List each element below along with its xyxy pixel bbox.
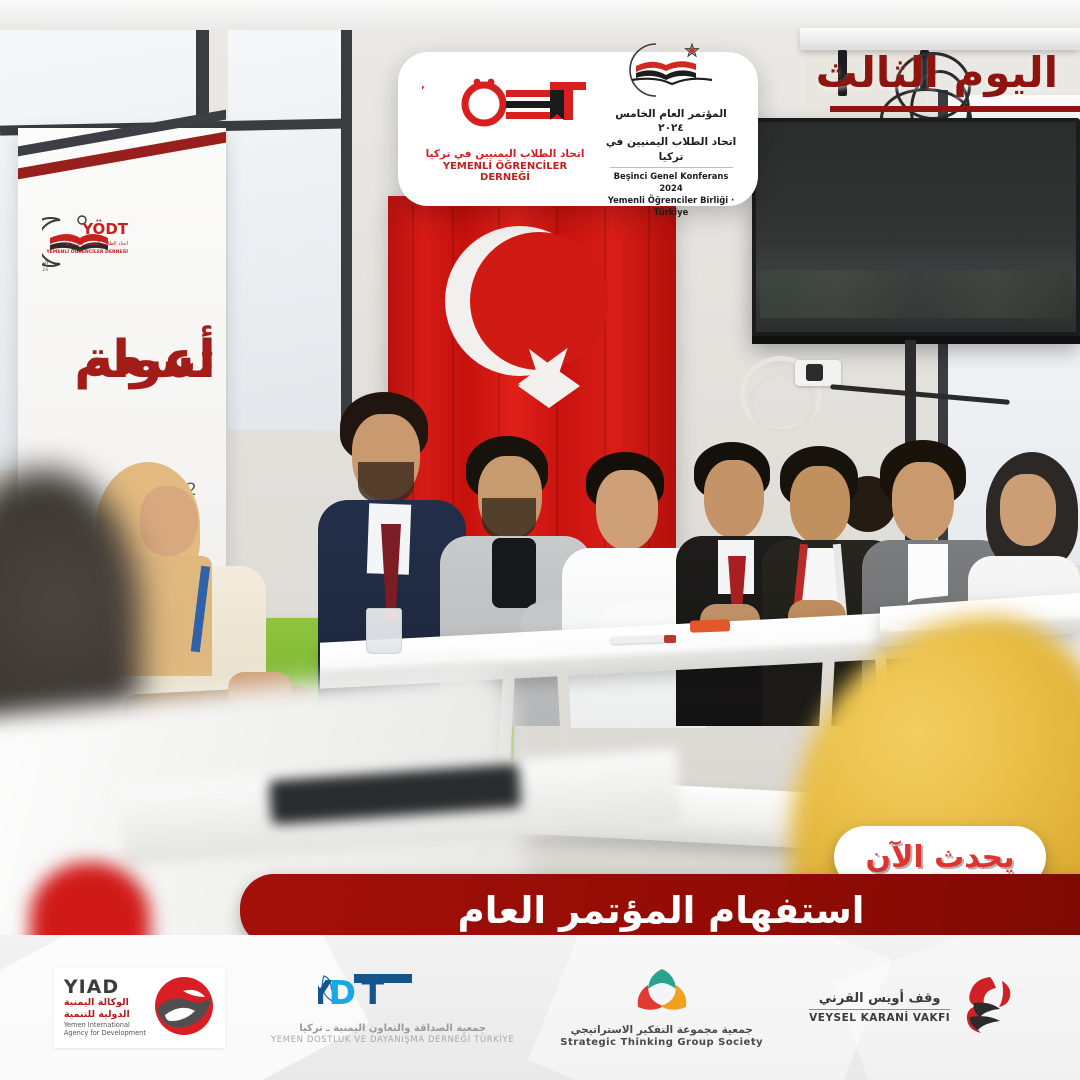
attendee-face	[1000, 474, 1056, 546]
water-cup	[366, 608, 402, 654]
veysel-karani-english: VEYSEL KARANİ VAKFI	[809, 1012, 950, 1024]
power-plug	[806, 364, 823, 381]
window-mullion-b	[341, 0, 352, 430]
yodt-wordmark-icon: Y	[418, 76, 593, 142]
yodt-logo: Y اتحاد الطلاب اليمنيين في تركيا YEMENLİ	[418, 76, 593, 183]
smartphone	[820, 611, 892, 629]
day-label: اليوم الثالث	[816, 52, 1058, 94]
svg-text:D: D	[328, 973, 355, 1012]
attendee-face	[596, 470, 658, 550]
yodt-arabic-name: اتحاد الطلاب اليمنيين في تركيا	[418, 148, 593, 160]
conference-logo: المؤتمر العام الخامس ٢٠٢٤ اتحاد الطلاب ا…	[604, 40, 739, 219]
divider	[610, 167, 733, 168]
attendee-beard	[482, 498, 536, 540]
yiad-text: YIAD الوكالة اليمنية الدولية للتنمية Yem…	[64, 978, 146, 1037]
tv-bottom-bezel	[752, 336, 1080, 344]
svg-text:YEMENLİ ÖĞRENCİLER DERNEĞİ: YEMENLİ ÖĞRENCİLER DERNEĞİ	[45, 248, 128, 255]
yodt-turkish-name: YEMENLİ ÖĞRENCİLER DERNEĞİ	[418, 161, 593, 183]
svg-text:المؤتمر العام الخامس ٢٠٢٤: المؤتمر العام الخامس ٢٠٢٤	[42, 260, 48, 266]
strategic-thinking-english: Strategic Thinking Group Society	[560, 1037, 763, 1048]
ydt-arabic: جمعية الصداقة والتعاون اليمنية ـ تركيا	[271, 1022, 514, 1035]
yiad-arabic-line2: الدولية للتنمية	[64, 1009, 146, 1021]
footer-logo-yiad: YIAD الوكالة اليمنية الدولية للتنمية Yem…	[54, 968, 225, 1048]
footer-logo-veysel-karani: وقف أويس القرني VEYSEL KARANİ VAKFI	[809, 975, 1026, 1041]
day-label-underline	[830, 106, 1080, 112]
svg-text:YÖDT: YÖDT	[81, 219, 129, 238]
svg-text:Y: Y	[422, 77, 425, 131]
strategic-thinking-mark-icon	[560, 967, 763, 1021]
svg-text:اتحاد الطلاب اليمنيين في تركيا: اتحاد الطلاب اليمنيين في تركيا	[65, 241, 128, 247]
footer-logo-strategic-thinking: جمعية مجموعة التفكير الاستراتيجي Strateg…	[560, 967, 763, 1049]
rollup-headline-line2: أعوام	[74, 330, 216, 391]
conference-arabic-line1: المؤتمر العام الخامس ٢٠٢٤	[604, 107, 739, 136]
yiad-arabic-line1: الوكالة اليمنية	[64, 997, 146, 1009]
conference-turkish-line2: Yemenli Öğrenciler Birliği · Türkiye	[604, 195, 739, 219]
window-left-2	[228, 0, 348, 430]
divider	[809, 1009, 950, 1010]
conference-emblem-icon	[612, 40, 730, 102]
ydt-text: جمعية الصداقة والتعاون اليمنية ـ تركيا Y…	[271, 1022, 514, 1045]
ydt-mark-icon: Y D T	[271, 970, 514, 1020]
day-label-text: اليوم الثالث	[816, 52, 1058, 94]
conference-social-card: YÖDT اتحاد الطلاب اليمنيين في تركيا YEME…	[0, 0, 1080, 1080]
smartphone	[900, 605, 958, 620]
veysel-karani-text: وقف أويس القرني VEYSEL KARANİ VAKFI	[809, 991, 950, 1025]
yiad-mark-icon	[153, 975, 215, 1041]
ceiling-edge	[0, 0, 1080, 30]
marker	[690, 619, 730, 632]
conference-turkish-line1: Beşinci Genel Konferans 2024	[604, 171, 739, 195]
veysel-karani-arabic: وقف أويس القرني	[809, 991, 950, 1008]
tv-screen-reflection	[760, 270, 1072, 318]
yiad-english-line1: Yemen International	[64, 1021, 146, 1029]
footer-logo-ydt: Y D T جمعية الصداقة والتعاون اليمنية ـ ت…	[271, 970, 514, 1045]
ydt-english: YEMEN DOSTLUK VE DAYANIŞMA DERNEĞİ TÜRKİ…	[271, 1035, 514, 1045]
pen-tip	[664, 635, 676, 643]
ceiling-shelf	[800, 28, 1080, 50]
header-logo-card: المؤتمر العام الخامس ٢٠٢٤ اتحاد الطلاب ا…	[398, 52, 758, 206]
svg-text:Beşinci Genel Konferans 2024: Beşinci Genel Konferans 2024	[42, 267, 48, 273]
yiad-english-line2: Agency for Development	[64, 1029, 146, 1037]
attendee-face	[140, 486, 198, 556]
strategic-thinking-arabic: جمعية مجموعة التفكير الاستراتيجي	[560, 1024, 763, 1038]
attendee-face	[790, 466, 850, 544]
yiad-card: YIAD الوكالة اليمنية الدولية للتنمية Yem…	[54, 968, 225, 1048]
attendee-face	[892, 462, 954, 542]
attendee-face	[704, 460, 764, 538]
veysel-karani-mark-icon	[960, 975, 1026, 1041]
conference-arabic-line2: اتحاد الطلاب اليمنيين في تركيا	[604, 135, 739, 164]
rollup-logo-block: YÖDT اتحاد الطلاب اليمنيين في تركيا YEME…	[42, 212, 202, 274]
live-now-text: يحدث الآن	[865, 840, 1014, 875]
yiad-wordmark: YIAD	[64, 978, 146, 997]
attendee-turtleneck	[492, 538, 536, 608]
attendee-beard	[358, 462, 414, 504]
strategic-thinking-text: جمعية مجموعة التفكير الاستراتيجي Strateg…	[560, 1024, 763, 1049]
partner-logos-strip: وقف أويس القرني VEYSEL KARANİ VAKFI	[0, 935, 1080, 1080]
